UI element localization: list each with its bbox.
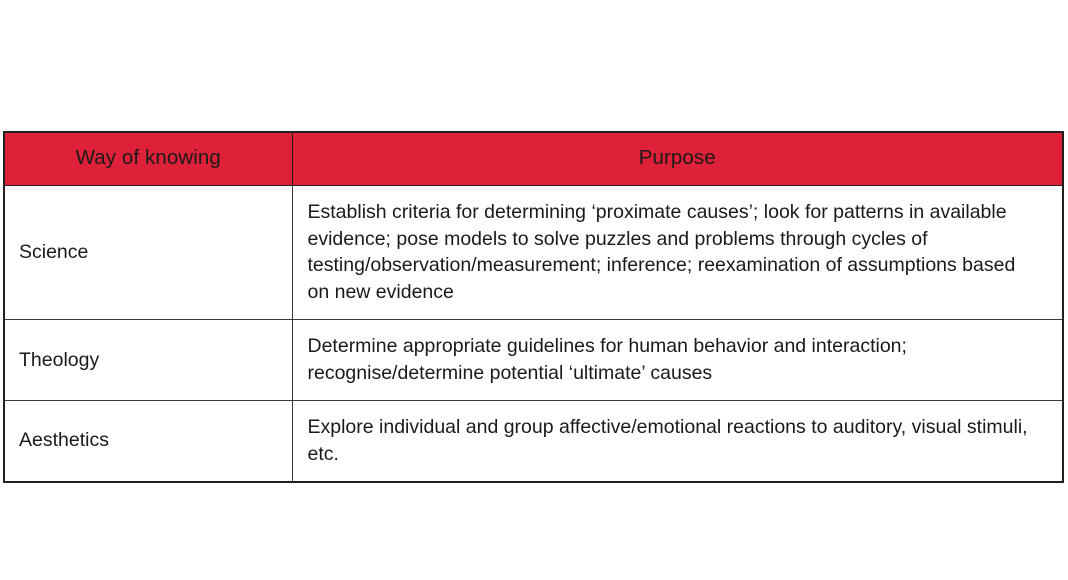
table-row: Science Establish criteria for determini… <box>4 185 1063 320</box>
cell-way-of-knowing: Theology <box>4 320 292 401</box>
table-body: Science Establish criteria for determini… <box>4 185 1063 482</box>
cell-purpose: Establish criteria for determining ‘prox… <box>292 185 1063 320</box>
ways-of-knowing-table: Way of knowing Purpose Science Establish… <box>3 131 1064 483</box>
table-row: Theology Determine appropriate guideline… <box>4 320 1063 401</box>
table-header-row: Way of knowing Purpose <box>4 132 1063 185</box>
column-header-purpose: Purpose <box>292 132 1063 185</box>
cell-purpose: Determine appropriate guidelines for hum… <box>292 320 1063 401</box>
cell-purpose-text: Determine appropriate guidelines for hum… <box>308 333 1041 387</box>
ways-of-knowing-table-container: Way of knowing Purpose Science Establish… <box>3 131 1062 483</box>
cell-way-of-knowing: Aesthetics <box>4 401 292 482</box>
table-header: Way of knowing Purpose <box>4 132 1063 185</box>
cell-purpose-text: Explore individual and group affective/e… <box>308 414 1041 468</box>
column-header-way-of-knowing: Way of knowing <box>4 132 292 185</box>
table-row: Aesthetics Explore individual and group … <box>4 401 1063 482</box>
cell-purpose: Explore individual and group affective/e… <box>292 401 1063 482</box>
cell-way-of-knowing: Science <box>4 185 292 320</box>
cell-purpose-text: Establish criteria for determining ‘prox… <box>308 199 1041 307</box>
